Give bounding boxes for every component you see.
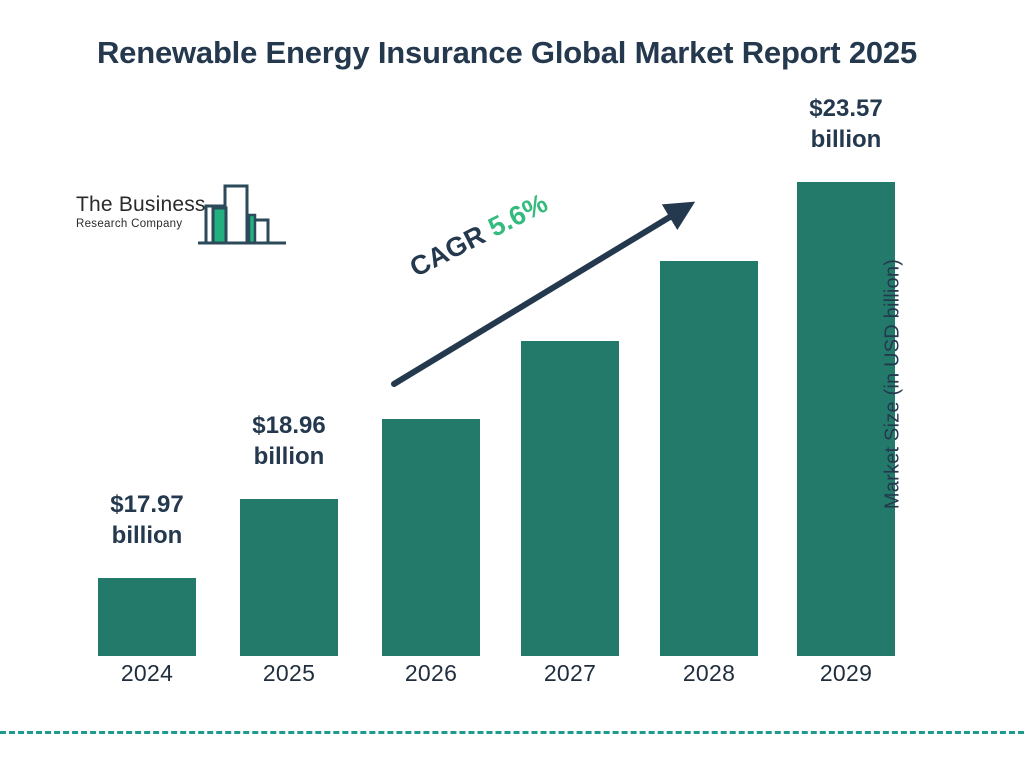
x-tick-label-2025: 2025 [240,660,338,687]
value-label-amount: $23.57 [781,94,911,125]
bar-2024 [98,578,196,656]
plot-area: 2024$17.97billion2025$18.96billion202620… [0,0,1024,768]
value-label-2025: $18.96billion [224,411,354,472]
value-label-amount: $18.96 [224,411,354,442]
cagr-annotation: CAGR 5.6% [405,188,553,284]
x-tick-label-2026: 2026 [382,660,480,687]
x-tick-label-2024: 2024 [98,660,196,687]
value-label-amount: $17.97 [82,490,212,521]
y-axis-title: Market Size (in USD billion) [881,259,904,509]
value-label-unit: billion [224,442,354,473]
value-label-2024: $17.97billion [82,490,212,551]
value-label-unit: billion [781,125,911,156]
value-label-2029: $23.57billion [781,94,911,155]
x-tick-label-2029: 2029 [797,660,895,687]
x-tick-label-2028: 2028 [660,660,758,687]
bar-2029 [797,182,895,656]
footer-divider [0,731,1024,734]
value-label-unit: billion [82,521,212,552]
bar-2025 [240,499,338,656]
cagr-label-text: CAGR [405,220,490,283]
bar-2027 [521,341,619,656]
bar-2028 [660,261,758,656]
cagr-value-text: 5.6% [483,188,552,243]
bar-2026 [382,419,480,656]
x-tick-label-2027: 2027 [521,660,619,687]
chart-root: Renewable Energy Insurance Global Market… [0,0,1024,768]
